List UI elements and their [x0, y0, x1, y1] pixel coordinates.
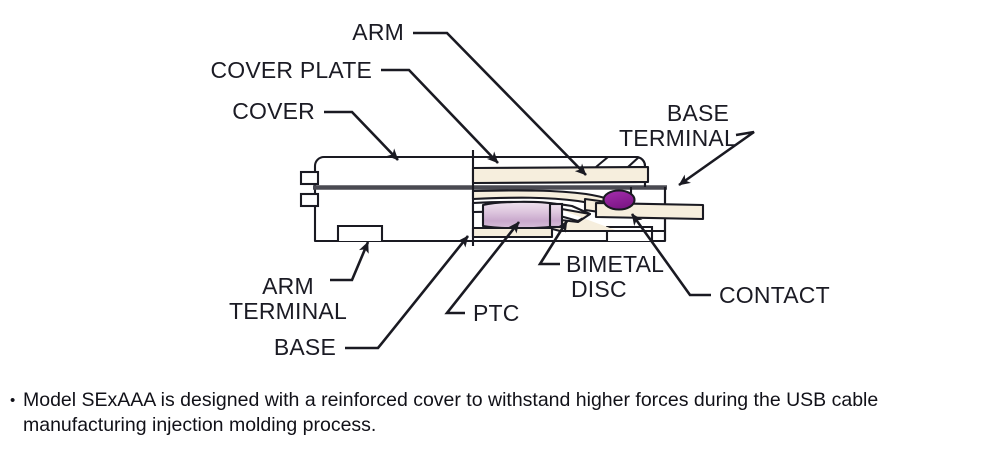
leader-cover — [324, 112, 398, 160]
callout-bimetal-disc-line2: DISC — [571, 276, 627, 302]
note-row: • Model SExAAA is designed with a reinfo… — [10, 388, 988, 438]
note-text: Model SExAAA is designed with a reinforc… — [23, 388, 988, 438]
callout-arm: ARM — [352, 19, 404, 45]
callout-base: BASE — [274, 334, 336, 360]
bottom-left-notch — [338, 226, 382, 241]
note-block: • Model SExAAA is designed with a reinfo… — [10, 388, 988, 438]
callout-contact: CONTACT — [719, 282, 830, 308]
note-bullet-icon: • — [10, 388, 23, 414]
callout-bimetal-disc-line1: BIMETAL — [566, 251, 664, 277]
leader-cover-plate — [381, 70, 498, 163]
leader-arm-terminal — [330, 242, 368, 280]
callout-arm-terminal-line2: TERMINAL — [229, 298, 347, 324]
callout-arm-terminal-line1: ARM — [262, 273, 314, 299]
left-tab-lower — [301, 194, 318, 206]
callout-base-terminal-line2: TERMINAL — [619, 125, 737, 151]
leader-arm — [413, 33, 586, 175]
callout-cover: COVER — [232, 98, 315, 124]
callout-cover-plate: COVER PLATE — [210, 57, 372, 83]
ptc-right-cap — [550, 204, 562, 227]
device-body — [301, 150, 703, 246]
callout-ptc: PTC — [473, 300, 520, 326]
ptc-part — [483, 202, 556, 228]
callout-base-terminal-line1: BASE — [667, 100, 729, 126]
left-tab-upper — [301, 172, 318, 184]
cover-plate-part — [473, 167, 648, 183]
contact-part — [604, 191, 635, 210]
